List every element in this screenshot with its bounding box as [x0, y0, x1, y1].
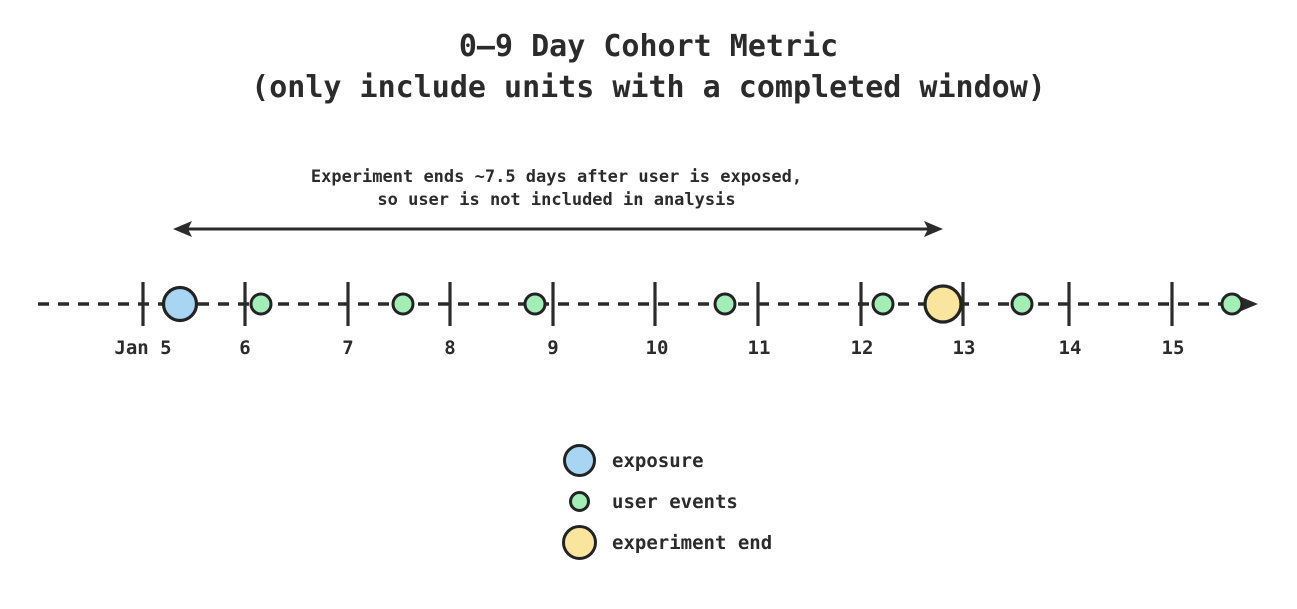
- legend: exposure user events experiment end: [556, 440, 976, 563]
- legend-item-experiment-end: experiment end: [556, 522, 976, 563]
- axis-tick-label-5: 10: [646, 337, 669, 359]
- legend-label-experiment-end: experiment end: [612, 532, 772, 554]
- double-headed-arrow-icon: [168, 215, 948, 245]
- experiment-end-marker: [925, 286, 961, 322]
- user-event-marker: [715, 294, 735, 314]
- annotation-text: Experiment ends ~7.5 days after user is …: [173, 166, 940, 212]
- annotation-line-2: so user is not included in analysis: [173, 189, 940, 212]
- dashed-timeline-axis-icon: [38, 294, 1258, 314]
- title-line-2: (only include units with a completed win…: [0, 67, 1297, 108]
- axis-tick-label-9: 14: [1059, 337, 1082, 359]
- axis-tick-label-0: Jan 5: [114, 337, 171, 359]
- axis-tick-label-4: 9: [547, 337, 558, 359]
- page-title: 0–9 Day Cohort Metric (only include unit…: [0, 26, 1297, 108]
- legend-item-user-events: user events: [556, 481, 976, 522]
- annotation-line-1: Experiment ends ~7.5 days after user is …: [173, 166, 940, 189]
- axis-tick-label-3: 8: [444, 337, 455, 359]
- title-line-1: 0–9 Day Cohort Metric: [0, 26, 1297, 67]
- user-events-swatch-icon: [556, 491, 602, 512]
- axis-tick-label-8: 13: [953, 337, 976, 359]
- axis-tick-label-6: 11: [748, 337, 771, 359]
- legend-item-exposure: exposure: [556, 440, 976, 481]
- user-event-marker: [1012, 294, 1032, 314]
- exposure-swatch-icon: [556, 444, 602, 477]
- user-event-marker: [525, 294, 545, 314]
- legend-label-exposure: exposure: [612, 450, 704, 472]
- user-event-marker: [393, 294, 413, 314]
- timeline-axis: [0, 250, 1297, 380]
- experiment-end-swatch-icon: [556, 525, 602, 560]
- axis-tick-label-10: 15: [1162, 337, 1185, 359]
- axis-tick-label-1: 6: [239, 337, 250, 359]
- user-event-marker: [251, 294, 271, 314]
- axis-tick-label-2: 7: [342, 337, 353, 359]
- exposure-marker: [164, 288, 197, 321]
- legend-label-user-events: user events: [612, 491, 738, 513]
- user-event-marker: [873, 294, 893, 314]
- axis-tick-label-7: 12: [851, 337, 874, 359]
- user-event-marker: [1222, 294, 1242, 314]
